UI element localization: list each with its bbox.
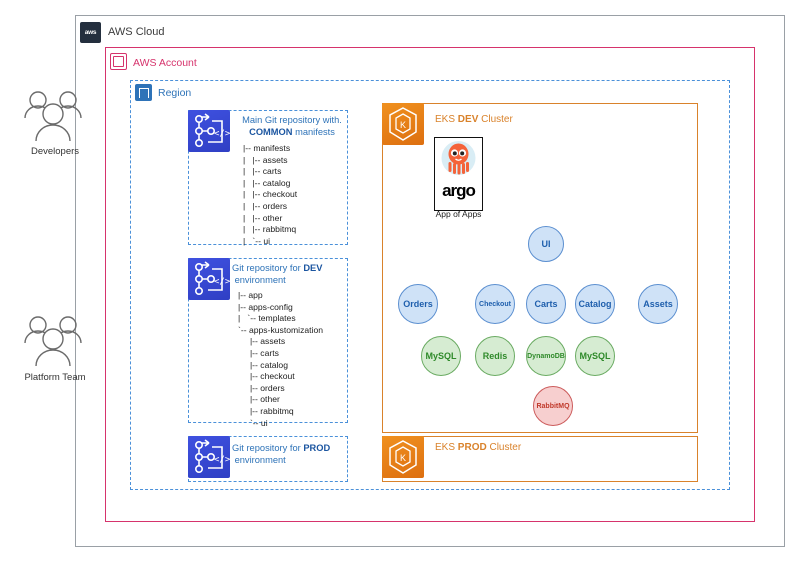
- repo-title-prod: Git repository for PROD environment: [232, 442, 348, 466]
- architecture-diagram: aws AWS Cloud AWS Account Region Develop…: [0, 0, 800, 566]
- svg-text:</>: </>: [214, 129, 230, 139]
- datastore-node-dynamodb[interactable]: DynamoDB: [526, 336, 566, 376]
- service-node-catalog[interactable]: Catalog: [575, 284, 615, 324]
- aws-account-label: AWS Account: [133, 57, 197, 69]
- argo-octopus-icon: [435, 138, 482, 183]
- aws-cloud-icon: aws: [80, 22, 101, 43]
- svg-text:K: K: [400, 453, 406, 463]
- eks-icon: K: [382, 436, 424, 478]
- repo-title-dev: Git repository for DEV environment: [232, 262, 348, 286]
- platform-team-icon: [18, 313, 92, 373]
- queue-node-rabbitmq[interactable]: RabbitMQ: [533, 386, 573, 426]
- service-node-ui[interactable]: UI: [528, 226, 564, 262]
- eks-dev-cluster-title: EKS DEV Cluster: [435, 114, 513, 125]
- git-repository-icon: </>: [188, 436, 230, 478]
- argo-wordmark: argo: [434, 182, 483, 199]
- service-node-checkout[interactable]: Checkout: [475, 284, 515, 324]
- repo-tree-main: |-- manifests | |-- assets | |-- carts |…: [243, 143, 297, 247]
- svg-text:K: K: [400, 120, 406, 130]
- svg-text:</>: </>: [214, 277, 230, 287]
- region-label: Region: [158, 87, 191, 99]
- eks-dev-cluster-frame: [382, 103, 698, 433]
- eks-icon: K: [382, 103, 424, 145]
- aws-account-icon: [110, 53, 127, 70]
- developers-label: Developers: [10, 146, 100, 157]
- git-repository-icon: </>: [188, 258, 230, 300]
- service-node-assets[interactable]: Assets: [638, 284, 678, 324]
- svg-text:</>: </>: [214, 455, 230, 465]
- eks-prod-cluster-frame: [382, 436, 698, 482]
- argo-caption: App of Apps: [420, 209, 497, 219]
- datastore-node-mysql-orders[interactable]: MySQL: [421, 336, 461, 376]
- repo-title-main: Main Git repository with.COMMON manifest…: [236, 114, 348, 138]
- service-node-carts[interactable]: Carts: [526, 284, 566, 324]
- platform-team-label: Platform Team: [5, 372, 105, 383]
- eks-prod-cluster-title: EKS PROD Cluster: [435, 442, 521, 453]
- aws-cloud-label: AWS Cloud: [108, 26, 164, 38]
- aws-region-icon: [135, 84, 152, 101]
- service-node-orders[interactable]: Orders: [398, 284, 438, 324]
- developers-icon: [18, 88, 92, 148]
- datastore-node-mysql-catalog[interactable]: MySQL: [575, 336, 615, 376]
- datastore-node-redis[interactable]: Redis: [475, 336, 515, 376]
- repo-tree-dev: |-- app |-- apps-config | `-- templates …: [238, 290, 323, 429]
- git-repository-icon: </>: [188, 110, 230, 152]
